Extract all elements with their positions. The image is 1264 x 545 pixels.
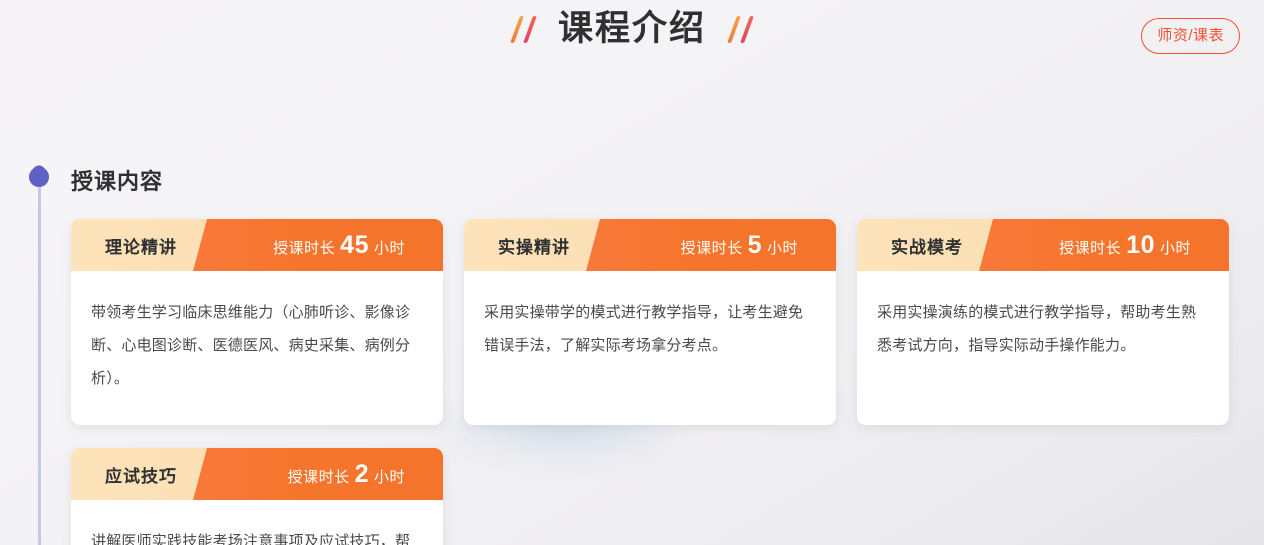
- duration-unit: 小时: [374, 237, 405, 258]
- course-card-header: 实操精讲 授课时长 5 小时: [464, 219, 836, 271]
- course-card-body: 讲解医师实践技能考场注意事项及应试技巧，帮助考生熟悉考试场景，考场应试能力。: [71, 500, 443, 545]
- course-card-header: 实战模考 授课时长 10 小时: [857, 219, 1229, 271]
- course-card[interactable]: 应试技巧 授课时长 2 小时 讲解医师实践技能考场注意事项及应试技巧，帮助考生熟…: [71, 448, 443, 545]
- course-card-description: 采用实操带学的模式进行教学指导，让考生避免错误手法，了解实际考场拿分考点。: [484, 296, 814, 362]
- slash-pink-icon: [523, 16, 537, 43]
- course-card-body: 带领考生学习临床思维能力（心肺听诊、影像诊断、心电图诊断、医德医风、病史采集、病…: [71, 271, 443, 425]
- duration-label: 授课时长: [273, 237, 335, 258]
- course-card-body: 采用实操演练的模式进行教学指导，帮助考生熟悉考试方向，指导实际动手操作能力。: [857, 271, 1229, 392]
- page-header: 课程介绍 师资/课表: [0, 0, 1264, 72]
- title-group: 课程介绍: [0, 6, 1264, 52]
- duration-label: 授课时长: [681, 237, 743, 258]
- slash-pink-icon: [740, 16, 754, 43]
- course-card-header: 理论精讲 授课时长 45 小时: [71, 219, 443, 271]
- course-card-grid: 理论精讲 授课时长 45 小时 带领考生学习临床思维能力（心肺听诊、影像诊断、心…: [71, 219, 1231, 545]
- course-card-description: 讲解医师实践技能考场注意事项及应试技巧，帮助考生熟悉考试场景，考场应试能力。: [91, 525, 421, 545]
- duration-value: 10: [1126, 233, 1155, 258]
- course-card-duration: 授课时长 45 小时: [273, 233, 405, 258]
- timeline-rail: [38, 168, 41, 545]
- duration-value: 5: [748, 233, 762, 258]
- page-title: 课程介绍: [558, 6, 706, 52]
- decor-slashes-left: [515, 12, 532, 46]
- course-card-description: 带领考生学习临床思维能力（心肺听诊、影像诊断、心电图诊断、医德医风、病史采集、病…: [91, 296, 421, 395]
- course-card-body: 采用实操带学的模式进行教学指导，让考生避免错误手法，了解实际考场拿分考点。: [464, 271, 836, 392]
- course-card-description: 采用实操演练的模式进行教学指导，帮助考生熟悉考试方向，指导实际动手操作能力。: [877, 296, 1207, 362]
- course-card[interactable]: 实操精讲 授课时长 5 小时 采用实操带学的模式进行教学指导，让考生避免错误手法…: [464, 219, 836, 425]
- slash-orange-icon: [727, 16, 741, 43]
- duration-value: 45: [340, 233, 369, 258]
- course-card-duration: 授课时长 2 小时: [288, 462, 405, 487]
- decor-slashes-right: [732, 12, 749, 46]
- slash-orange-icon: [510, 16, 524, 43]
- course-card[interactable]: 实战模考 授课时长 10 小时 采用实操演练的模式进行教学指导，帮助考生熟悉考试…: [857, 219, 1229, 425]
- course-card[interactable]: 理论精讲 授课时长 45 小时 带领考生学习临床思维能力（心肺听诊、影像诊断、心…: [71, 219, 443, 425]
- course-card-title: 应试技巧: [105, 462, 177, 487]
- diamond-bullet-icon: [25, 163, 53, 191]
- duration-unit: 小时: [1160, 237, 1191, 258]
- section-heading: 授课内容: [71, 164, 163, 196]
- course-card-title: 理论精讲: [105, 233, 177, 258]
- course-card-title: 实操精讲: [498, 233, 570, 258]
- course-card-duration: 授课时长 5 小时: [681, 233, 798, 258]
- duration-value: 2: [355, 462, 369, 487]
- duration-label: 授课时长: [1059, 237, 1121, 258]
- course-card-header: 应试技巧 授课时长 2 小时: [71, 448, 443, 500]
- course-card-duration: 授课时长 10 小时: [1059, 233, 1191, 258]
- duration-label: 授课时长: [288, 466, 350, 487]
- course-card-title: 实战模考: [891, 233, 963, 258]
- duration-unit: 小时: [767, 237, 798, 258]
- teacher-schedule-button[interactable]: 师资/课表: [1141, 18, 1240, 54]
- duration-unit: 小时: [374, 466, 405, 487]
